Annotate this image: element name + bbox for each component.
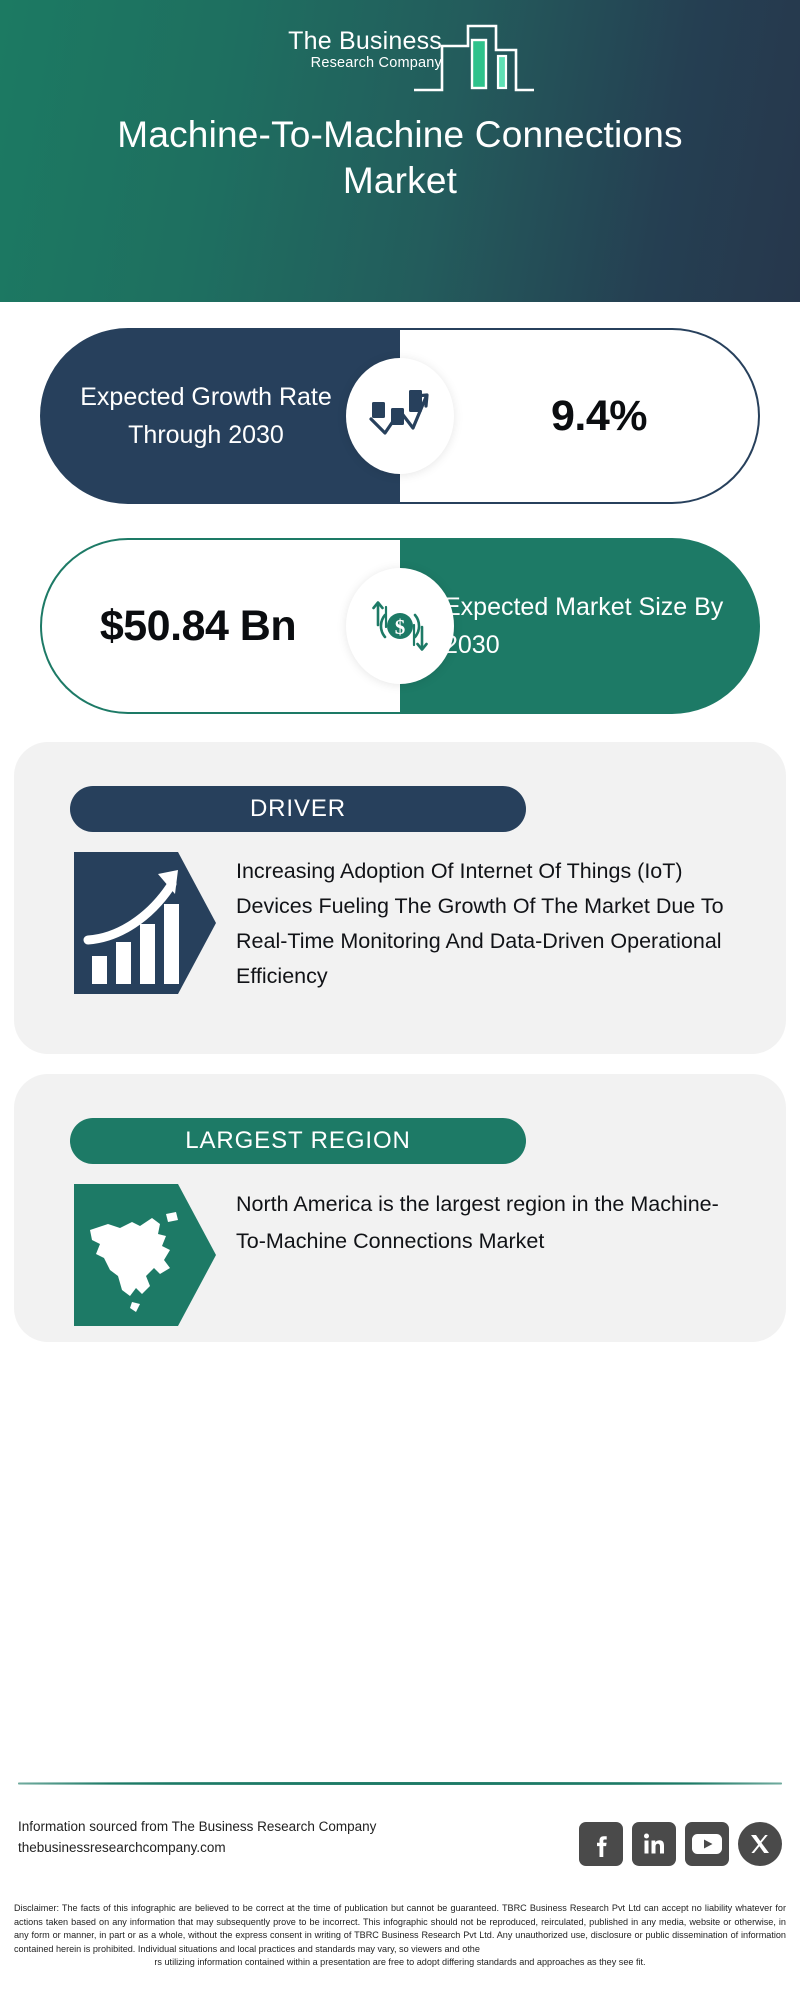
disclaimer-main: Disclaimer: The facts of this infographi… — [14, 1903, 786, 1954]
page-title: Machine-To-Machine Connections Market — [0, 112, 800, 204]
footer-source: Information sourced from The Business Re… — [18, 1816, 488, 1858]
youtube-icon[interactable] — [685, 1822, 729, 1866]
svg-text:$: $ — [395, 615, 406, 639]
largest-region-text: North America is the largest region in t… — [236, 1184, 748, 1326]
growth-chart-arrow-icon — [346, 358, 454, 474]
stat-value: 9.4% — [511, 392, 647, 441]
header-banner: The Business Research Company Machine-To… — [0, 0, 800, 302]
social-links — [579, 1822, 782, 1866]
largest-region-panel: LARGEST REGION North America is the larg… — [14, 1074, 786, 1342]
driver-pill: DRIVER — [70, 786, 526, 832]
dollar-circle-arrows-icon: $ — [346, 568, 454, 684]
footer-divider — [18, 1782, 782, 1785]
driver-text: Increasing Adoption Of Internet Of Thing… — [236, 852, 748, 994]
stat-card-value-side: 9.4% — [400, 328, 760, 504]
north-america-map-icon — [74, 1184, 216, 1326]
disclaimer-text: Disclaimer: The facts of this infographi… — [14, 1902, 786, 1970]
linkedin-icon[interactable] — [632, 1822, 676, 1866]
stat-value: $50.84 Bn — [100, 598, 342, 654]
largest-region-pill: LARGEST REGION — [70, 1118, 526, 1164]
largest-region-pill-label: LARGEST REGION — [185, 1127, 411, 1155]
stat-card-growth-rate: Expected Growth Rate Through 2030 9.4% — [40, 328, 760, 504]
footer-source-line-1: Information sourced from The Business Re… — [18, 1816, 488, 1837]
stat-card-market-size: $50.84 Bn Expected Market Size By 2030 $ — [40, 538, 760, 714]
stat-card-label-side: Expected Market Size By 2030 — [400, 538, 760, 714]
disclaimer-last-line: rs utilizing information contained withi… — [14, 1956, 786, 1970]
x-twitter-icon[interactable] — [738, 1822, 782, 1866]
stat-label: Expected Market Size By 2030 — [400, 588, 760, 664]
footer-website-url[interactable]: thebusinessresearchcompany.com — [18, 1837, 488, 1858]
driver-pill-label: DRIVER — [250, 795, 346, 823]
growth-arrow-bars-icon — [74, 852, 216, 994]
largest-region-body: North America is the largest region in t… — [74, 1184, 748, 1326]
company-logo: The Business Research Company — [0, 22, 800, 94]
driver-body: Increasing Adoption Of Internet Of Thing… — [74, 852, 748, 994]
bar-chart-logo-mark-icon — [412, 22, 536, 94]
infographic-page: The Business Research Company Machine-To… — [0, 0, 800, 2000]
driver-panel: DRIVER Increasing Adoption Of Internet O… — [14, 742, 786, 1054]
facebook-icon[interactable] — [579, 1822, 623, 1866]
